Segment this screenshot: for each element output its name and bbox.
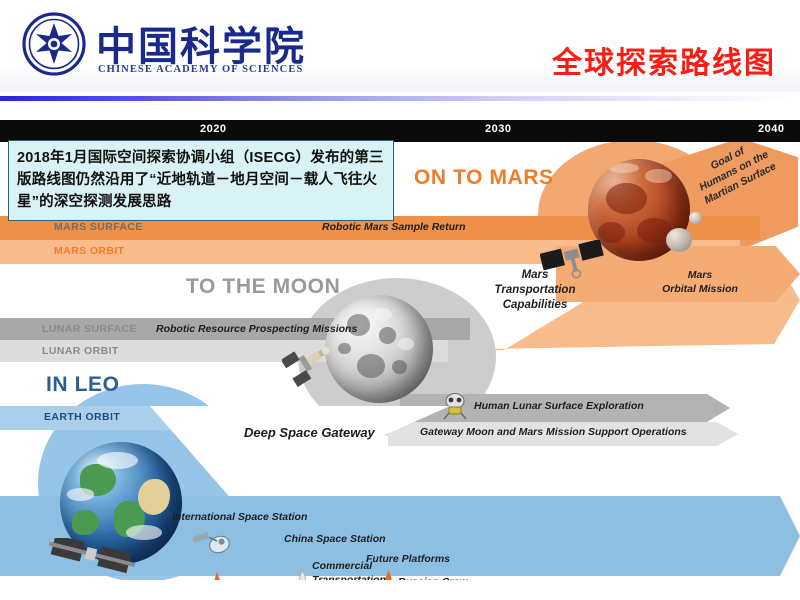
slide-root: 中国科学院 CHINESE ACADEMY OF SCIENCES 全球探索路线… (0, 0, 800, 600)
iss-icon (40, 538, 140, 586)
mission-international-space-station: International Space Station (172, 511, 307, 523)
satellite-icon (192, 524, 238, 564)
header-divider (0, 96, 800, 101)
mission-deep-space-gateway: Deep Space Gateway (244, 425, 375, 440)
mission-gateway-moon-mars-support: Gateway Moon and Mars Mission Support Op… (420, 426, 687, 438)
roadmap-canvas: ON TO MARS Goal of Humans on the Martian… (0, 120, 800, 580)
mars-orbital-line1: Mars (688, 269, 713, 281)
annotation-note-box: 2018年1月国际空间探索协调小组（ISECG）发布的第三版路线图仍然沿用了“近… (8, 140, 394, 221)
earth-orbit-band-label: EARTH ORBIT (44, 411, 120, 423)
lunar-surface-band-label: LUNAR SURFACE (42, 323, 137, 335)
page-title: 全球探索路线图 (552, 38, 776, 82)
lunar-lander-icon (440, 390, 470, 420)
moon-planet-icon (325, 295, 433, 403)
slide-header: 中国科学院 CHINESE ACADEMY OF SCIENCES 全球探索路线… (0, 0, 800, 92)
timeline-year-2030: 2030 (485, 123, 511, 135)
cas-logo-text: 中国科学院 CHINESE ACADEMY OF SCIENCES (96, 14, 326, 76)
section-title-leo: IN LEO (46, 373, 120, 397)
mission-robotic-mars-sample-return: Robotic Mars Sample Return (322, 221, 466, 233)
mission-robotic-resource-prospecting: Robotic Resource Prospecting Missions (156, 323, 357, 335)
lunar-orbit-band-label: LUNAR ORBIT (42, 345, 119, 357)
footer-strip (0, 580, 800, 600)
mission-human-lunar-surface-exploration: Human Lunar Surface Exploration (474, 400, 644, 412)
cas-logo-english: CHINESE ACADEMY OF SCIENCES (98, 64, 303, 75)
timeline-bar (0, 120, 800, 142)
timeline-year-2020: 2020 (200, 123, 226, 135)
deep-space-gateway-icon (282, 332, 340, 390)
mars-transport-line3: Capabilities (503, 299, 568, 311)
mission-china-space-station: China Space Station (284, 533, 386, 545)
mars-transport-line1: Mars (522, 269, 549, 281)
mars-orbit-band-label: MARS ORBIT (54, 245, 125, 257)
mars-orbital-line2: Orbital Mission (662, 283, 738, 295)
cas-emblem-icon (22, 12, 86, 76)
commercial-line1: Commercial (312, 560, 372, 572)
mars-surface-band-label: MARS SURFACE (54, 221, 143, 233)
annotation-note-text: 2018年1月国际空间探索协调小组（ISECG）发布的第三版路线图仍然沿用了“近… (17, 147, 385, 213)
timeline-year-2040: 2040 (758, 123, 784, 135)
section-title-mars: ON TO MARS (414, 166, 554, 190)
mars-moon-phobos-icon (666, 228, 692, 252)
mission-mars-transportation-capabilities: Mars Transportation Capabilities (470, 268, 600, 313)
mission-mars-orbital-mission: Mars Orbital Mission (640, 269, 760, 296)
section-title-moon: TO THE MOON (186, 275, 340, 299)
mission-future-platforms: Future Platforms (366, 553, 450, 565)
mars-transport-line2: Transportation (495, 284, 576, 296)
